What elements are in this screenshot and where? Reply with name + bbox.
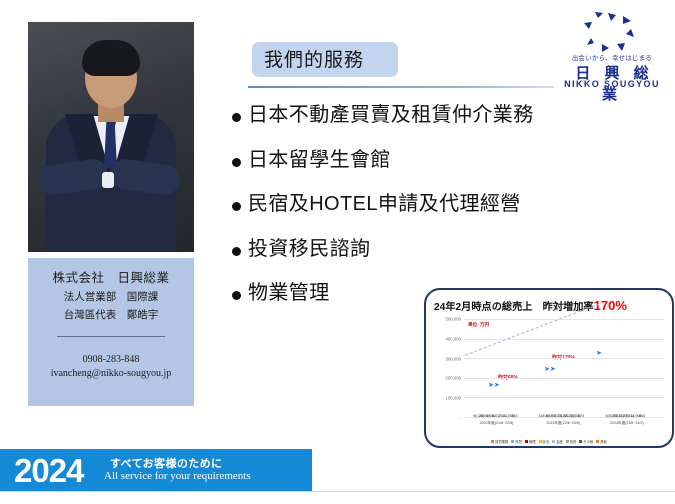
- chart-gridline: 400,000: [464, 339, 664, 340]
- footer-banner: 2024 すべてお客様のために All service for your req…: [0, 449, 312, 491]
- chart-y-tick: 200,000: [445, 376, 461, 381]
- legend-item: その他: [579, 439, 593, 444]
- bullet-dot-icon: [232, 202, 241, 211]
- chart-x-tick: 2023年度(22/6~23/5): [546, 421, 580, 426]
- legend-item: 売買: [511, 439, 522, 444]
- banner-year: 2024: [14, 452, 83, 490]
- legend-item: 賃貸業務: [491, 439, 508, 444]
- legend-item: 投資: [566, 439, 577, 444]
- bullet-dot-icon: [232, 291, 241, 300]
- sales-chart-card: 24年2月時点の総売上 昨対増加率170% 単位: 万円 ➤➤ ➤➤ ➤ 昨対6…: [424, 288, 674, 448]
- legend-swatch: [539, 440, 542, 443]
- logo-name-en: NIKKO SOUGYOU: [556, 79, 668, 89]
- chart-y-tick: 100,000: [445, 396, 461, 401]
- legend-label: 会館: [556, 439, 563, 444]
- legend-item: 民泊: [539, 439, 550, 444]
- chart-plot-area: ➤➤ ➤➤ ➤ 昨対68% 昨対170% 500,000400,000300,0…: [464, 320, 664, 418]
- legend-label: 投資: [570, 439, 577, 444]
- chart-y-tick: 500,000: [445, 317, 461, 322]
- service-label: 日本留學生會館: [248, 149, 391, 173]
- legend-swatch: [491, 440, 494, 443]
- service-label: 物業管理: [248, 282, 330, 306]
- growth-arrow-icon: ➤➤: [544, 365, 556, 373]
- contact-card: 株式会社 日興総業 法人営業部 国際課 台灣區代表 鄭皓宇 0908-283-8…: [28, 258, 194, 406]
- list-item: 民宿及HOTEL申請及代理經營: [232, 193, 612, 217]
- chart-x-tick: 2022年度(21/6~22/5): [480, 421, 514, 426]
- legend-label: 管理: [529, 439, 536, 444]
- card-representative: 台灣區代表 鄭皓宇: [28, 307, 194, 322]
- chart-legend: 賃貸業務売買管理民泊会館投資その他其他: [426, 439, 672, 444]
- chart-x-tick: 2024年度(23/6~24/2): [610, 421, 644, 426]
- chart-gridline: 500,000: [464, 319, 664, 320]
- chart-y-tick: -: [460, 416, 461, 421]
- legend-label: 其他: [600, 439, 607, 444]
- card-divider: [57, 336, 165, 337]
- card-company: 株式会社 日興総業: [28, 258, 194, 286]
- card-department: 法人営業部 国際課: [28, 289, 194, 304]
- company-logo: 出会いから、幸せはじまる 日 興 総 業 NIKKO SOUGYOU: [556, 12, 668, 88]
- card-email: ivancheng@nikko-sougyou.jp: [28, 368, 194, 379]
- bullet-dot-icon: [232, 113, 241, 122]
- chart-bar-value: 574: [578, 414, 584, 418]
- banner-tagline-jp: すべてお客様のために: [110, 455, 222, 471]
- chart-y-tick: 300,000: [445, 356, 461, 361]
- legend-item: 管理: [525, 439, 536, 444]
- legend-label: 民泊: [543, 439, 550, 444]
- service-label: 民宿及HOTEL申請及代理經營: [248, 193, 521, 217]
- banner-tagline-en: All service for your requirements: [104, 470, 251, 482]
- growth-arrow-icon: ➤: [596, 349, 602, 357]
- title-divider: [248, 86, 554, 88]
- legend-label: 賃貸業務: [495, 439, 508, 444]
- chart-title-main: 24年2月時点の総売上 昨対増加率: [434, 302, 594, 313]
- portrait-photo: [28, 22, 194, 252]
- slide-root: 株式会社 日興総業 法人営業部 国際課 台灣區代表 鄭皓宇 0908-283-8…: [0, 0, 675, 504]
- footer-divider: [0, 491, 675, 492]
- chart-y-tick: 400,000: [445, 336, 461, 341]
- bullet-dot-icon: [232, 247, 241, 256]
- growth-arrow-icon: ➤➤: [488, 381, 500, 389]
- chart-title: 24年2月時点の総売上 昨対増加率170%: [434, 298, 666, 313]
- legend-label: 売買: [515, 439, 522, 444]
- hair: [82, 40, 140, 76]
- legend-swatch: [552, 440, 555, 443]
- legend-swatch: [579, 440, 582, 443]
- chart-gridline: 100,000: [464, 397, 664, 398]
- bullet-dot-icon: [232, 158, 241, 167]
- legend-swatch: [596, 440, 599, 443]
- logo-tagline: 出会いから、幸せはじまる: [556, 53, 668, 62]
- legend-swatch: [525, 440, 528, 443]
- chart-gridline: 200,000: [464, 378, 664, 379]
- chart-bar-value: 864: [639, 414, 645, 418]
- service-label: 日本不動產買賣及租賃仲介業務: [248, 104, 534, 128]
- legend-item: 其他: [596, 439, 607, 444]
- list-item: 日本不動產買賣及租賃仲介業務: [232, 104, 612, 128]
- card-phone: 0908-283-848: [28, 354, 194, 365]
- chart-gridline: 300,000: [464, 358, 664, 359]
- chart-bar-value: 483: [512, 414, 518, 418]
- legend-swatch: [566, 440, 569, 443]
- service-label: 投資移民諮詢: [248, 238, 370, 262]
- legend-item: 会館: [552, 439, 563, 444]
- list-item: 日本留學生會館: [232, 149, 612, 173]
- list-item: 投資移民諮詢: [232, 238, 612, 262]
- page-title-text: 我們的服務: [252, 42, 398, 77]
- ring-of-triangles-icon: [578, 12, 644, 54]
- shirt-cuff: [102, 172, 114, 188]
- legend-swatch: [511, 440, 514, 443]
- legend-label: その他: [583, 439, 593, 444]
- page-title: 我們的服務: [252, 42, 552, 77]
